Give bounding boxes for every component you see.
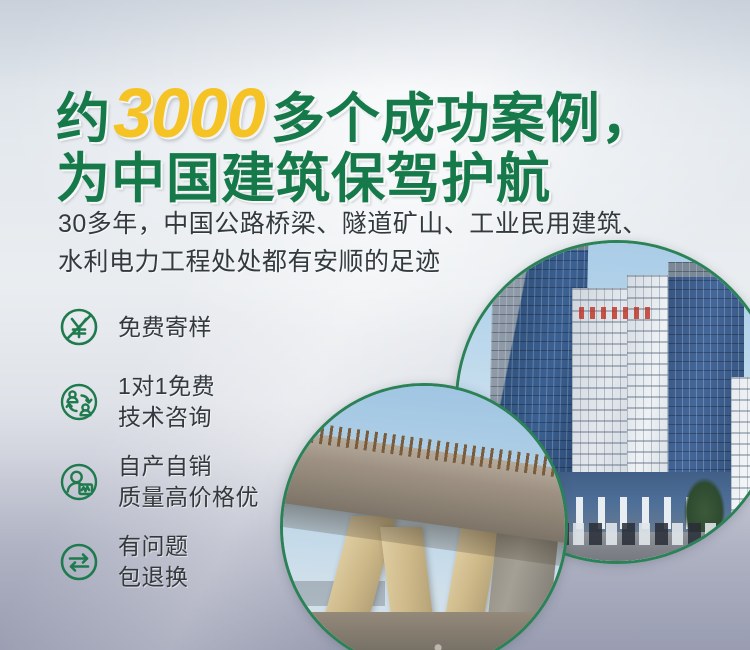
feature-label: 免费寄样 [118,312,212,343]
bridge-rubble [283,623,565,650]
feature-label-line: 包退换 [118,562,189,593]
bridge-scene [283,386,565,650]
feature-label: 1对1免费 技术咨询 [118,371,215,433]
feature-label: 有问题 包退换 [118,531,189,593]
headline-number: 3000 [113,74,265,152]
self-production-quality-icon [54,457,104,507]
subcopy: 30多年，中国公路桥梁、隧道矿山、工业民用建筑、 水利电力工程处处都有安顺的足迹 [58,205,648,281]
feature-item-free-sample: 免费寄样 [54,298,324,356]
feature-label-line: 免费寄样 [118,312,212,343]
headline-suffix: 多个成功案例， [271,89,656,149]
feature-label-line: 1对1免费 [118,371,215,402]
feature-item-self-production: 自产自销 质量高价格优 [54,450,324,514]
headline-second-line: 为中国建筑保驾护航 [56,149,551,209]
feature-label-line: 有问题 [118,531,189,562]
feature-item-return-exchange: 有问题 包退换 [54,530,324,594]
feature-label-line: 技术咨询 [118,402,215,433]
free-sample-yuan-icon [54,302,104,352]
return-exchange-icon [54,537,104,587]
promo-banner: 约3000多个成功案例， 为中国建筑保驾护航 30多年，中国公路桥梁、隧道矿山、… [0,0,750,650]
headline-line-2: 为中国建筑保驾护航 [56,152,656,206]
building-rooftop-sign [579,307,655,320]
headline-prefix: 约 [56,89,111,149]
feature-list: 免费寄样 1对1免费 技术咨询 [54,298,324,608]
headline: 约3000多个成功案例， 为中国建筑保驾护航 [56,78,656,206]
subcopy-line-1: 30多年，中国公路桥梁、隧道矿山、工业民用建筑、 [58,205,648,243]
feature-label-line: 质量高价格优 [118,482,259,513]
headline-line-1: 约3000多个成功案例， [56,78,656,144]
subcopy-line-2: 水利电力工程处处都有安顺的足迹 [58,243,648,281]
feature-item-consult: 1对1免费 技术咨询 [54,370,324,434]
one-to-one-consult-icon [54,377,104,427]
feature-label-line: 自产自销 [118,451,259,482]
feature-label: 自产自销 质量高价格优 [118,451,259,513]
